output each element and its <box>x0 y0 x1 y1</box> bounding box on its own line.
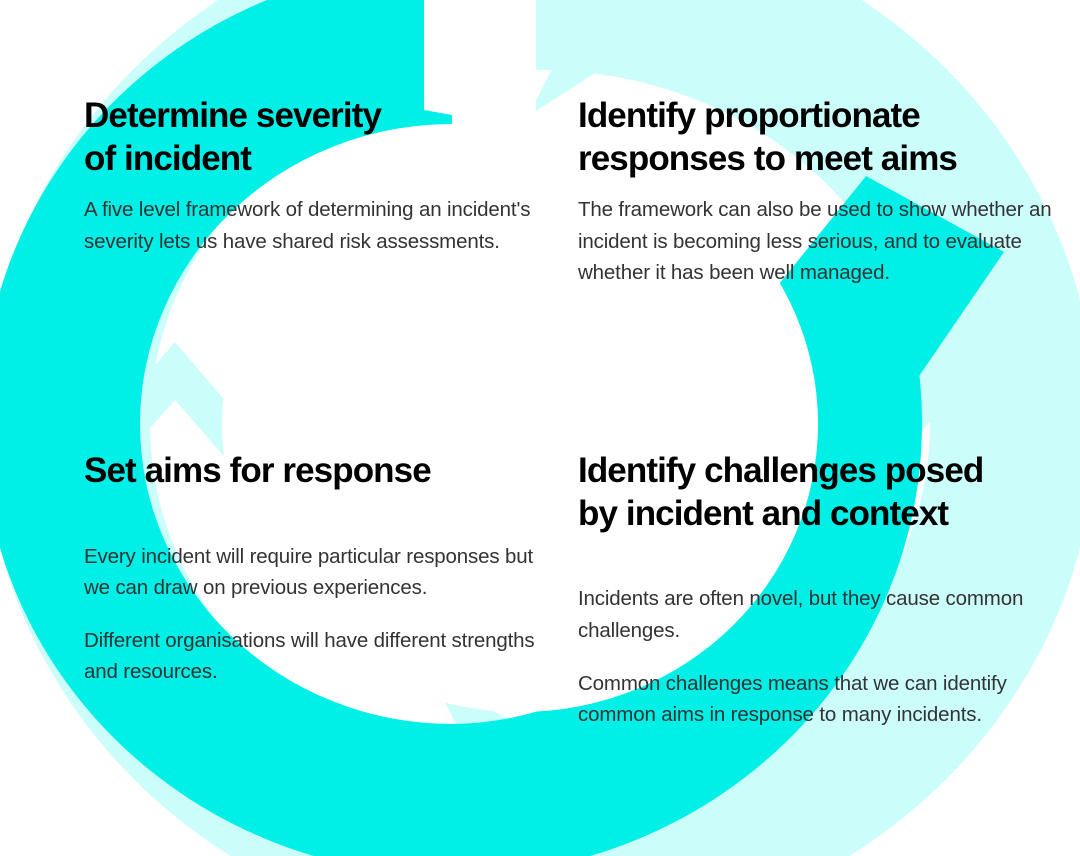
quadrant-set-aims-for-response: Set aims for response Every incident wil… <box>84 450 554 820</box>
infographic-canvas: Determine severity of incident A five le… <box>0 0 1080 856</box>
body-set-aims-p1: Every incident will require particular r… <box>84 541 554 603</box>
heading-identify-challenges: Identify challenges posed by incident an… <box>578 450 1078 535</box>
body-set-aims-p2: Different organisations will have differ… <box>84 625 554 687</box>
heading-identify-proportionate-responses: Identify proportionate responses to meet… <box>578 95 1078 180</box>
body-identify-challenges-p1: Incidents are often novel, but they caus… <box>578 583 1078 645</box>
quadrant-determine-severity: Determine severity of incident A five le… <box>84 95 554 450</box>
quadrant-identify-proportionate-responses: Identify proportionate responses to meet… <box>578 95 1078 450</box>
quadrant-grid: Determine severity of incident A five le… <box>0 0 1080 856</box>
body-identify-challenges-p2: Common challenges means that we can iden… <box>578 668 1078 730</box>
body-identify-proportionate-responses-p1: The framework can also be used to show w… <box>578 194 1078 287</box>
body-determine-severity-p1: A five level framework of determining an… <box>84 194 554 256</box>
quadrant-identify-challenges: Identify challenges posed by incident an… <box>578 450 1078 820</box>
heading-determine-severity: Determine severity of incident <box>84 95 554 180</box>
heading-set-aims-for-response: Set aims for response <box>84 450 554 493</box>
